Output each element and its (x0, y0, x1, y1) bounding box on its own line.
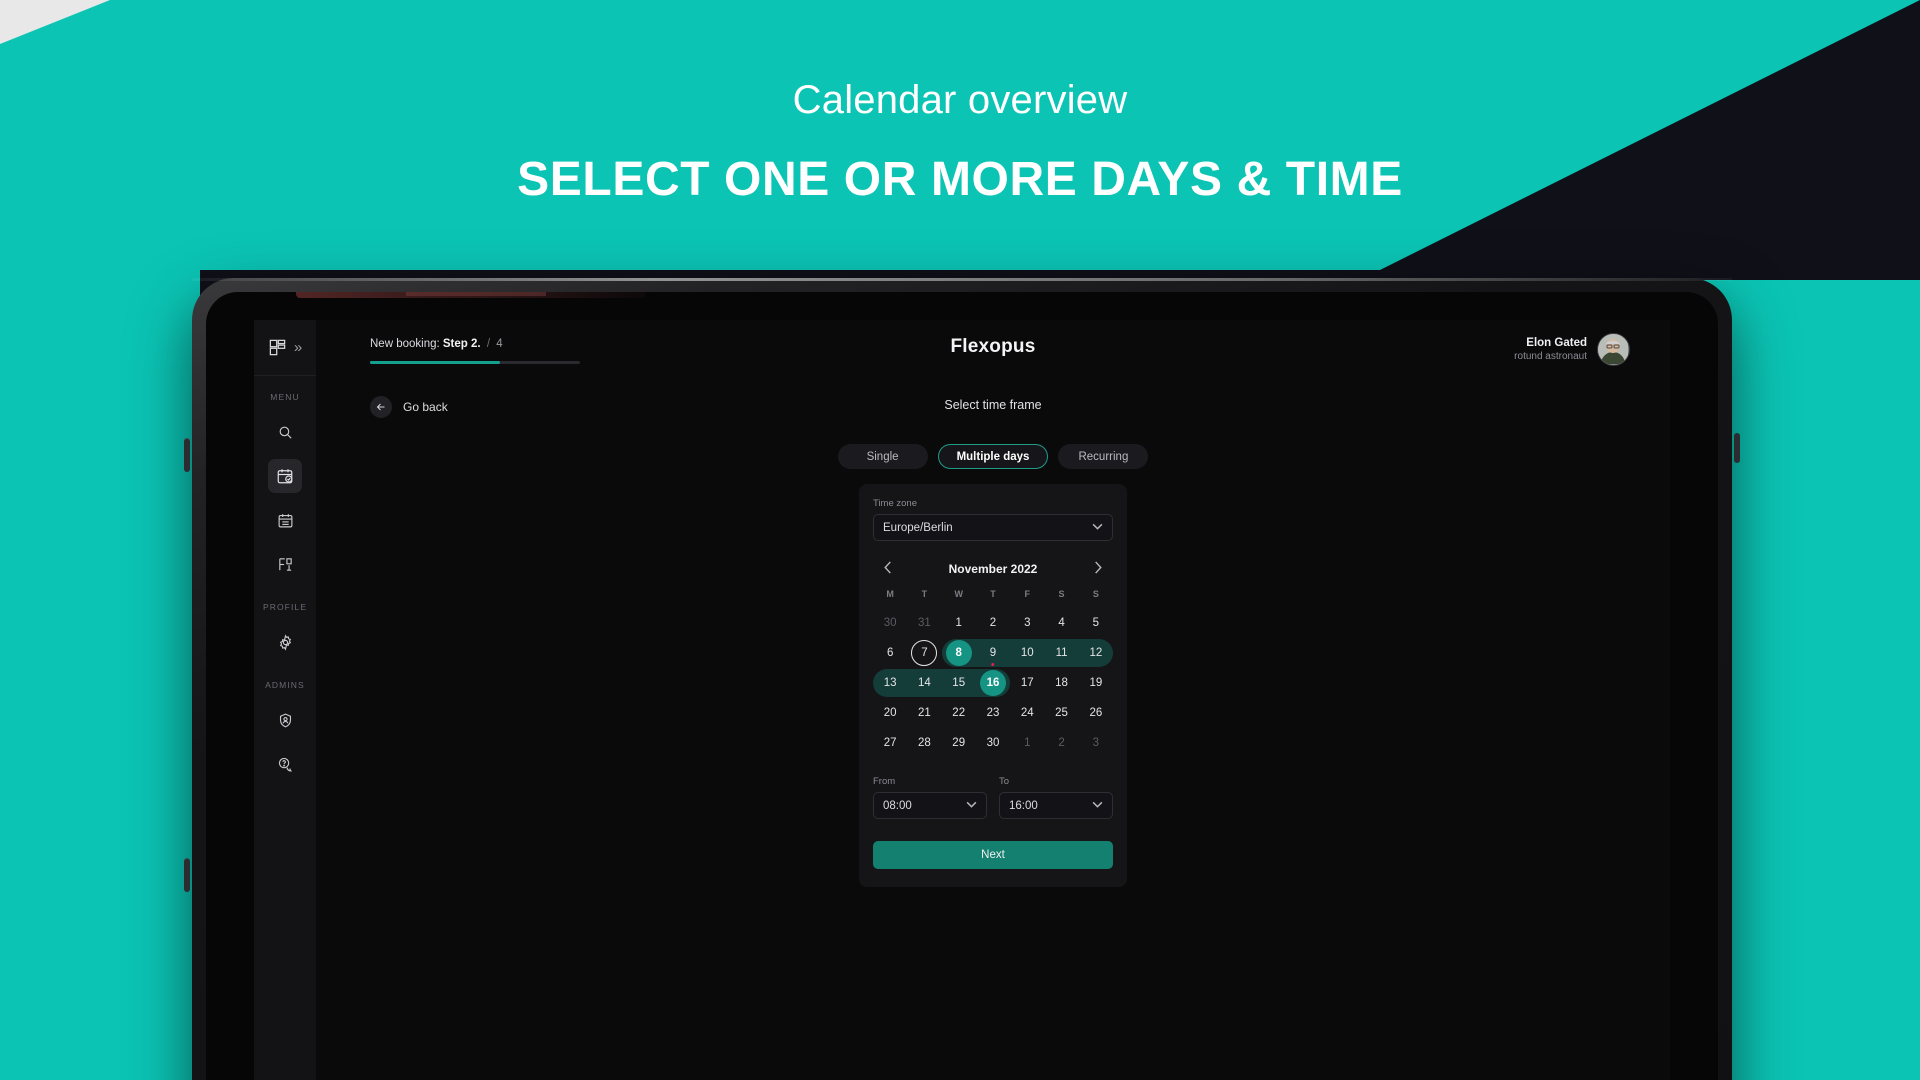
calendar-day-number: 2 (1049, 730, 1075, 756)
calendar-day-number: 25 (1049, 700, 1075, 726)
weekday-header: S (1079, 589, 1113, 608)
calendar-day-number: 31 (911, 610, 937, 636)
calendar-day-cell: 31 (907, 608, 941, 638)
calendar-day-cell[interactable]: 8 (942, 638, 976, 668)
calendar-day-cell[interactable]: 28 (907, 728, 941, 758)
tab-recurring[interactable]: Recurring (1058, 444, 1148, 469)
calendar-day-cell[interactable]: 14 (907, 668, 941, 698)
calendar-day-cell[interactable]: 18 (1044, 668, 1078, 698)
tab-multiple-days[interactable]: Multiple days (938, 444, 1049, 469)
calendar-day-number: 5 (1083, 610, 1109, 636)
sidebar-item-settings[interactable] (268, 625, 302, 659)
bezel-highlight (192, 278, 1732, 281)
calendar-day-number: 12 (1083, 640, 1109, 666)
calendar-day-cell[interactable]: 27 (873, 728, 907, 758)
sidebar-item-support[interactable] (268, 747, 302, 781)
calendar-week-cells: 303112345 (873, 608, 1113, 638)
calendar-week-row: 13141516171819 (873, 668, 1113, 698)
calendar-day-number: 1 (1014, 730, 1040, 756)
calendar-day-cell[interactable]: 24 (1010, 698, 1044, 728)
user-name: Elon Gated (1514, 337, 1587, 349)
calendar-day-number: 29 (946, 730, 972, 756)
weekday-header: T (976, 589, 1010, 608)
time-from-group: From 08:00 (873, 776, 987, 819)
calendar-day-cell[interactable]: 21 (907, 698, 941, 728)
calendar-day-number: 14 (911, 670, 937, 696)
help-chat-icon (277, 756, 294, 773)
calendar-week-row: 20212223242526 (873, 698, 1113, 728)
chevron-down-icon (966, 801, 977, 811)
calendar-header: November 2022 (873, 561, 1113, 589)
calendar-day-cell[interactable]: 13 (873, 668, 907, 698)
calendar-day-cell[interactable]: 3 (1010, 608, 1044, 638)
time-from-select[interactable]: 08:00 (873, 792, 987, 819)
gear-icon (277, 634, 294, 651)
chevron-down-icon (1092, 523, 1103, 533)
sidebar-item-admin-users[interactable] (268, 703, 302, 737)
progress-bar (370, 361, 580, 364)
chevron-right-icon[interactable] (1089, 561, 1107, 577)
calendar-day-number: 17 (1014, 670, 1040, 696)
calendar-day-cell[interactable]: 10 (1010, 638, 1044, 668)
time-to-value: 16:00 (1009, 800, 1038, 812)
calendar-week-row: 6789101112 (873, 638, 1113, 668)
calendar-day-number: 19 (1083, 670, 1109, 696)
calendar-day-cell[interactable]: 4 (1044, 608, 1078, 638)
sidebar-item-floorplan[interactable] (268, 547, 302, 581)
calendar-day-number: 3 (1014, 610, 1040, 636)
calendar-day-cell[interactable]: 25 (1044, 698, 1078, 728)
calendar-week-cells: 13141516171819 (873, 668, 1113, 698)
calendar-day-number: 2 (980, 610, 1006, 636)
calendar-day-cell[interactable]: 20 (873, 698, 907, 728)
sidebar-section-label-profile: PROFILE (254, 602, 316, 612)
time-from-label: From (873, 776, 987, 787)
next-button[interactable]: Next (873, 841, 1113, 869)
calendar-day-number: 4 (1049, 610, 1075, 636)
calendar-week-cells: 27282930123 (873, 728, 1113, 758)
weekday-header: F (1010, 589, 1044, 608)
calendar-day-number: 15 (946, 670, 972, 696)
calendar-day-number: 30 (877, 610, 903, 636)
time-range-row: From 08:00 (873, 776, 1113, 819)
calendar-weekday-row: M T W T F S S (873, 589, 1113, 608)
calendar-day-cell: 3 (1079, 728, 1113, 758)
page-subtitle: Select time frame (316, 398, 1670, 412)
time-to-group: To 16:00 (999, 776, 1113, 819)
device-button-volume-up[interactable] (184, 438, 190, 472)
calendar: November 2022 M T W (873, 561, 1113, 758)
promo-left-teal (0, 0, 200, 1080)
weekday-header: W (942, 589, 976, 608)
timezone-value: Europe/Berlin (883, 522, 953, 534)
calendar-day-selected: 16 (980, 670, 1006, 696)
sidebar-item-booking[interactable] (268, 459, 302, 493)
calendar-check-icon (276, 467, 294, 485)
calendar-week-cells: 6789101112 (873, 638, 1113, 668)
progress-bar-fill (370, 361, 500, 364)
floorplan-icon (277, 556, 294, 573)
layout-dashboard-icon (268, 338, 287, 357)
calendar-day-cell[interactable]: 1 (942, 608, 976, 638)
calendar-day-number: 6 (877, 640, 903, 666)
calendar-day-cell[interactable]: 15 (942, 668, 976, 698)
calendar-day-cell[interactable]: 29 (942, 728, 976, 758)
calendar-day-number: 13 (877, 670, 903, 696)
calendar-day-cell: 1 (1010, 728, 1044, 758)
calendar-day-cell[interactable]: 23 (976, 698, 1010, 728)
calendar-day-number: 21 (911, 700, 937, 726)
calendar-day-number: 27 (877, 730, 903, 756)
calendar-day-today: 7 (911, 640, 937, 666)
weekday-header: S (1044, 589, 1078, 608)
calendar-grid: 3031123456789101112131415161718192021222… (873, 608, 1113, 758)
device-button-power[interactable] (1734, 433, 1740, 463)
calendar-day-cell[interactable]: 22 (942, 698, 976, 728)
calendar-day-number: 24 (1014, 700, 1040, 726)
search-icon (277, 424, 294, 441)
sidebar-item-calendar[interactable] (268, 503, 302, 537)
calendar-week-cells: 20212223242526 (873, 698, 1113, 728)
calendar-day-cell[interactable]: 12 (1079, 638, 1113, 668)
calendar-day-cell[interactable]: 19 (1079, 668, 1113, 698)
user-menu[interactable]: Elon Gated rotund astronaut (1514, 333, 1630, 366)
calendar-day-number: 18 (1049, 670, 1075, 696)
calendar-day-number: 3 (1083, 730, 1109, 756)
topbar: New booking: Step 2. / 4 Flexopus (316, 320, 1670, 382)
app-window: » MENU (254, 320, 1670, 1080)
user-avatar (1598, 334, 1628, 364)
calendar-title: November 2022 (949, 562, 1038, 576)
device-camera-strip-inner (406, 292, 546, 296)
calendar-day-cell[interactable]: 9 (976, 638, 1010, 668)
calendar-day-cell: 2 (1044, 728, 1078, 758)
main-content: New booking: Step 2. / 4 Flexopus (316, 320, 1670, 1080)
weekday-header: M (873, 589, 907, 608)
calendar-week-row: 303112345 (873, 608, 1113, 638)
avatar[interactable] (1597, 333, 1630, 366)
chevron-left-icon[interactable] (879, 561, 897, 577)
screenshot-root: Calendar overview SELECT ONE OR MORE DAY… (0, 0, 1920, 1080)
user-text-block: Elon Gated rotund astronaut (1514, 337, 1587, 362)
calendar-day-number: 28 (911, 730, 937, 756)
brand-title: Flexopus (316, 336, 1670, 358)
time-to-select[interactable]: 16:00 (999, 792, 1113, 819)
calendar-day-number: 23 (980, 700, 1006, 726)
calendar-week-row: 27282930123 (873, 728, 1113, 758)
calendar-day-cell[interactable]: 30 (976, 728, 1010, 758)
calendar-day-number: 11 (1049, 640, 1075, 666)
calendar-day-cell[interactable]: 6 (873, 638, 907, 668)
calendar-day-number: 26 (1083, 700, 1109, 726)
calendar-day-cell[interactable]: 16 (976, 668, 1010, 698)
time-from-value: 08:00 (883, 800, 912, 812)
calendar-day-cell[interactable]: 26 (1079, 698, 1113, 728)
chevron-double-right-icon[interactable]: » (294, 340, 302, 355)
calendar-day-cell: 30 (873, 608, 907, 638)
calendar-day-number: 30 (980, 730, 1006, 756)
device-button-volume-down[interactable] (184, 858, 190, 892)
timezone-group: Time zone Europe/Berlin (873, 498, 1113, 541)
tablet-device: » MENU (192, 278, 1732, 1080)
calendar-day-number: 22 (946, 700, 972, 726)
user-role: rotund astronaut (1514, 351, 1587, 362)
time-to-label: To (999, 776, 1113, 787)
sidebar-section-label-menu: MENU (254, 392, 316, 402)
calendar-day-cell[interactable]: 7 (907, 638, 941, 668)
calendar-day-cell[interactable]: 2 (976, 608, 1010, 638)
sidebar-logo-row[interactable]: » (254, 320, 316, 376)
chevron-down-icon (1092, 801, 1103, 811)
calendar-day-cell[interactable]: 5 (1079, 608, 1113, 638)
calendar-day-number: 20 (877, 700, 903, 726)
tablet-screen-area: » MENU (206, 292, 1718, 1080)
sidebar-section-label-admins: ADMINS (254, 680, 316, 690)
shield-user-icon (277, 712, 294, 729)
calendar-day-number: 1 (946, 610, 972, 636)
calendar-icon (277, 512, 294, 529)
timezone-select[interactable]: Europe/Berlin (873, 514, 1113, 541)
calendar-day-number: 10 (1014, 640, 1040, 666)
timeframe-tabs: Single Multiple days Recurring (316, 444, 1670, 469)
calendar-day-cell[interactable]: 11 (1044, 638, 1078, 668)
tab-single[interactable]: Single (838, 444, 928, 469)
calendar-day-selected: 8 (946, 640, 972, 666)
timezone-label: Time zone (873, 498, 1113, 509)
sidebar: » MENU (254, 320, 316, 1080)
calendar-day-event-dot (991, 663, 995, 667)
booking-card: Time zone Europe/Berlin (859, 484, 1127, 887)
calendar-day-cell[interactable]: 17 (1010, 668, 1044, 698)
weekday-header: T (907, 589, 941, 608)
sidebar-item-search[interactable] (268, 415, 302, 449)
